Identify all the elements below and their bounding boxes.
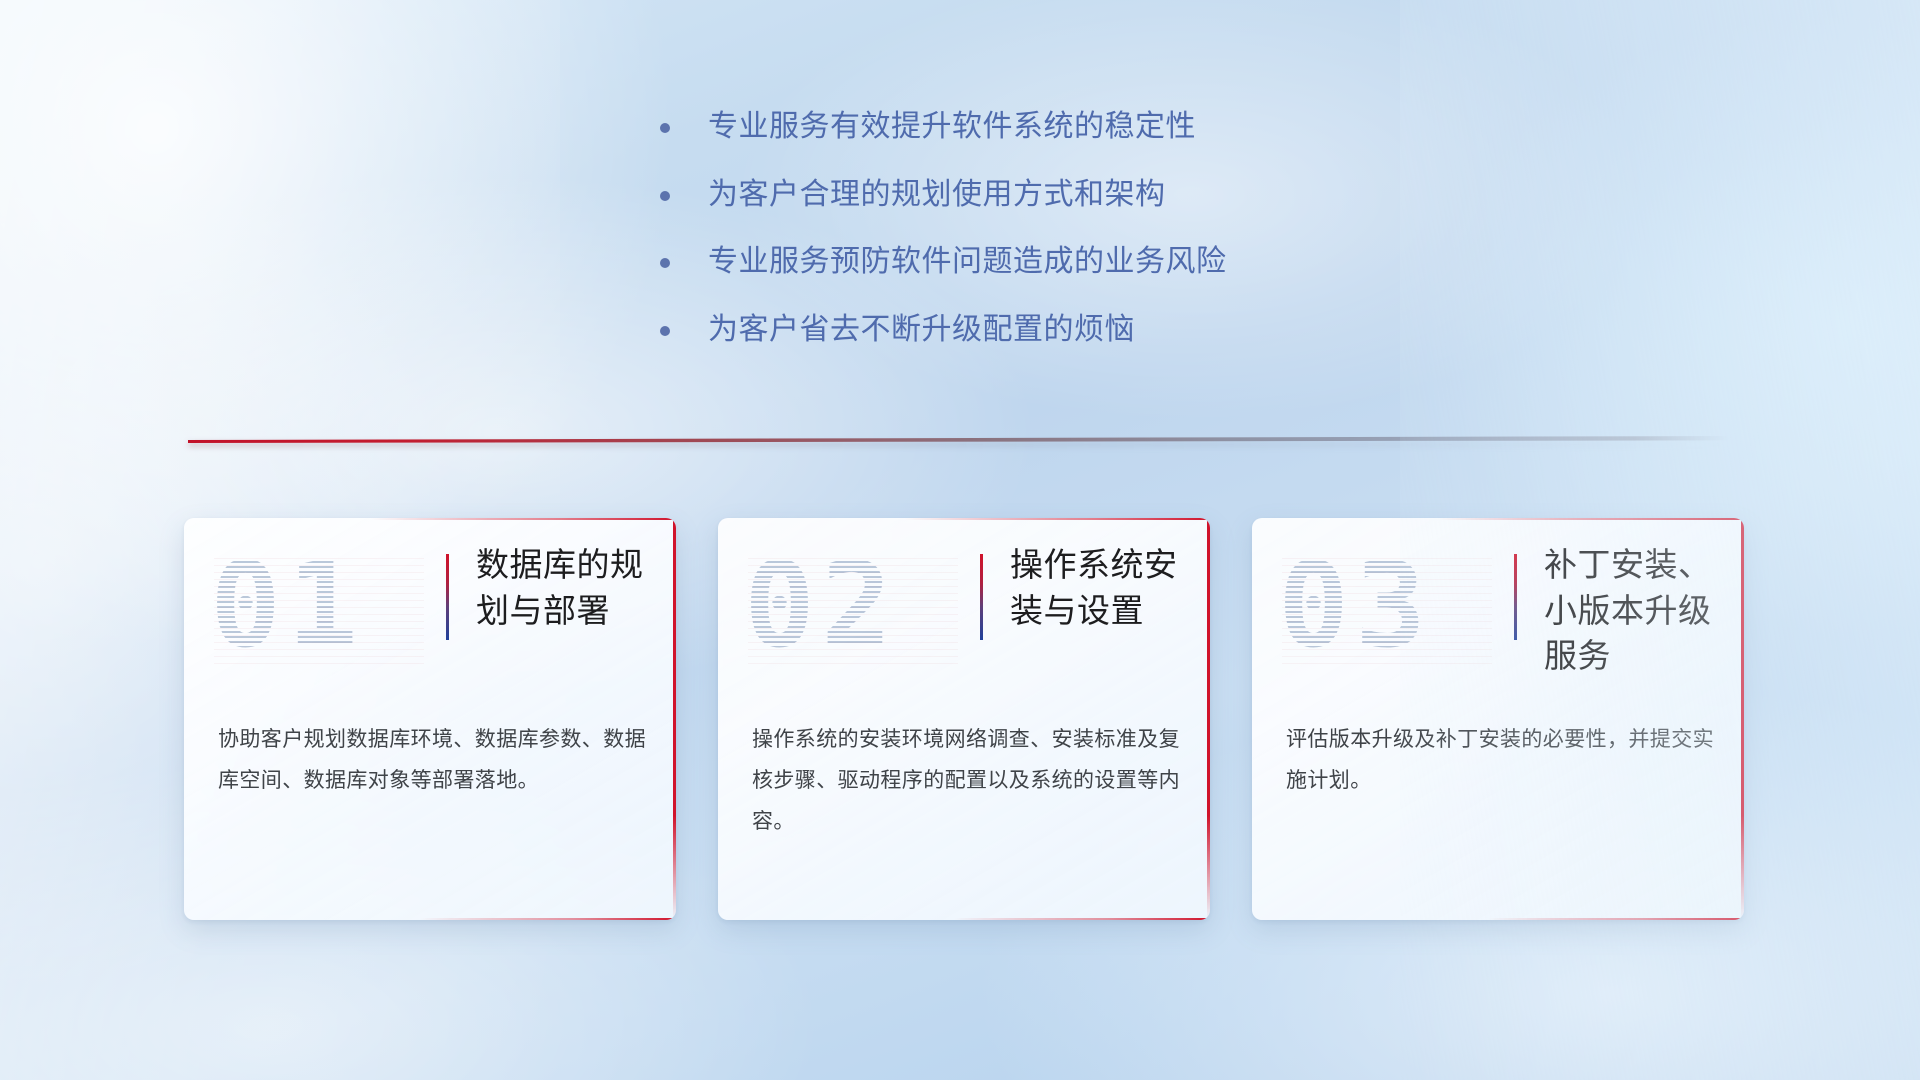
card-accent-bottom <box>954 918 1210 920</box>
card-watermark-number: 01 <box>210 546 364 664</box>
card-watermark-number: 02 <box>744 546 898 664</box>
card-body-text: 操作系统的安装环境网络调查、安装标准及复核步骤、驱动程序的配置以及系统的设置等内… <box>752 720 1180 843</box>
card-title-accent-bar <box>980 554 983 640</box>
card-title-accent-bar <box>446 554 449 640</box>
card-body-text: 评估版本升级及补丁安装的必要性，并提交实施计划。 <box>1286 720 1714 802</box>
section-divider <box>188 432 1728 446</box>
bullet-dot-icon <box>660 326 670 336</box>
card-title: 数据库的规划与部署 <box>476 542 676 633</box>
bullet-dot-icon <box>660 191 670 201</box>
card-watermark-number: 03 <box>1278 546 1432 664</box>
card-title: 操作系统安装与设置 <box>1010 542 1210 633</box>
service-card-01[interactable]: 01 数据库的规划与部署 协助客户规划数据库环境、数据库参数、数据库空间、数据库… <box>184 518 676 920</box>
card-title: 补丁安装、小版本升级服务 <box>1544 542 1744 679</box>
service-card-02[interactable]: 02 操作系统安装与设置 操作系统的安装环境网络调查、安装标准及复核步骤、驱动程… <box>718 518 1210 920</box>
list-item: 专业服务预防软件问题造成的业务风险 <box>660 243 1420 281</box>
card-body-text: 协助客户规划数据库环境、数据库参数、数据库空间、数据库对象等部署落地。 <box>218 720 646 802</box>
card-accent-top <box>1439 518 1744 520</box>
list-item: 专业服务有效提升软件系统的稳定性 <box>660 108 1420 146</box>
slide-canvas: 专业服务有效提升软件系统的稳定性 为客户合理的规划使用方式和架构 专业服务预防软… <box>0 0 1920 1080</box>
card-accent-top <box>371 518 676 520</box>
card-header: 02 操作系统安装与设置 <box>718 552 1210 680</box>
card-accent-bottom <box>1488 918 1744 920</box>
benefits-bullet-list: 专业服务有效提升软件系统的稳定性 为客户合理的规划使用方式和架构 专业服务预防软… <box>660 108 1420 378</box>
bullet-text: 专业服务有效提升软件系统的稳定性 <box>708 108 1196 146</box>
bullet-dot-icon <box>660 258 670 268</box>
divider-shadow <box>188 442 1728 447</box>
service-card-group: 01 数据库的规划与部署 协助客户规划数据库环境、数据库参数、数据库空间、数据库… <box>184 518 1744 920</box>
card-header: 03 补丁安装、小版本升级服务 <box>1252 552 1744 680</box>
list-item: 为客户合理的规划使用方式和架构 <box>660 176 1420 214</box>
bullet-text: 为客户合理的规划使用方式和架构 <box>708 176 1166 214</box>
list-item: 为客户省去不断升级配置的烦恼 <box>660 311 1420 349</box>
card-accent-top <box>905 518 1210 520</box>
card-accent-bottom <box>420 918 676 920</box>
service-card-03[interactable]: 03 补丁安装、小版本升级服务 评估版本升级及补丁安装的必要性，并提交实施计划。 <box>1252 518 1744 920</box>
bullet-text: 为客户省去不断升级配置的烦恼 <box>708 311 1135 349</box>
bullet-dot-icon <box>660 123 670 133</box>
card-header: 01 数据库的规划与部署 <box>184 552 676 680</box>
bullet-text: 专业服务预防软件问题造成的业务风险 <box>708 243 1227 281</box>
card-title-accent-bar <box>1514 554 1517 640</box>
